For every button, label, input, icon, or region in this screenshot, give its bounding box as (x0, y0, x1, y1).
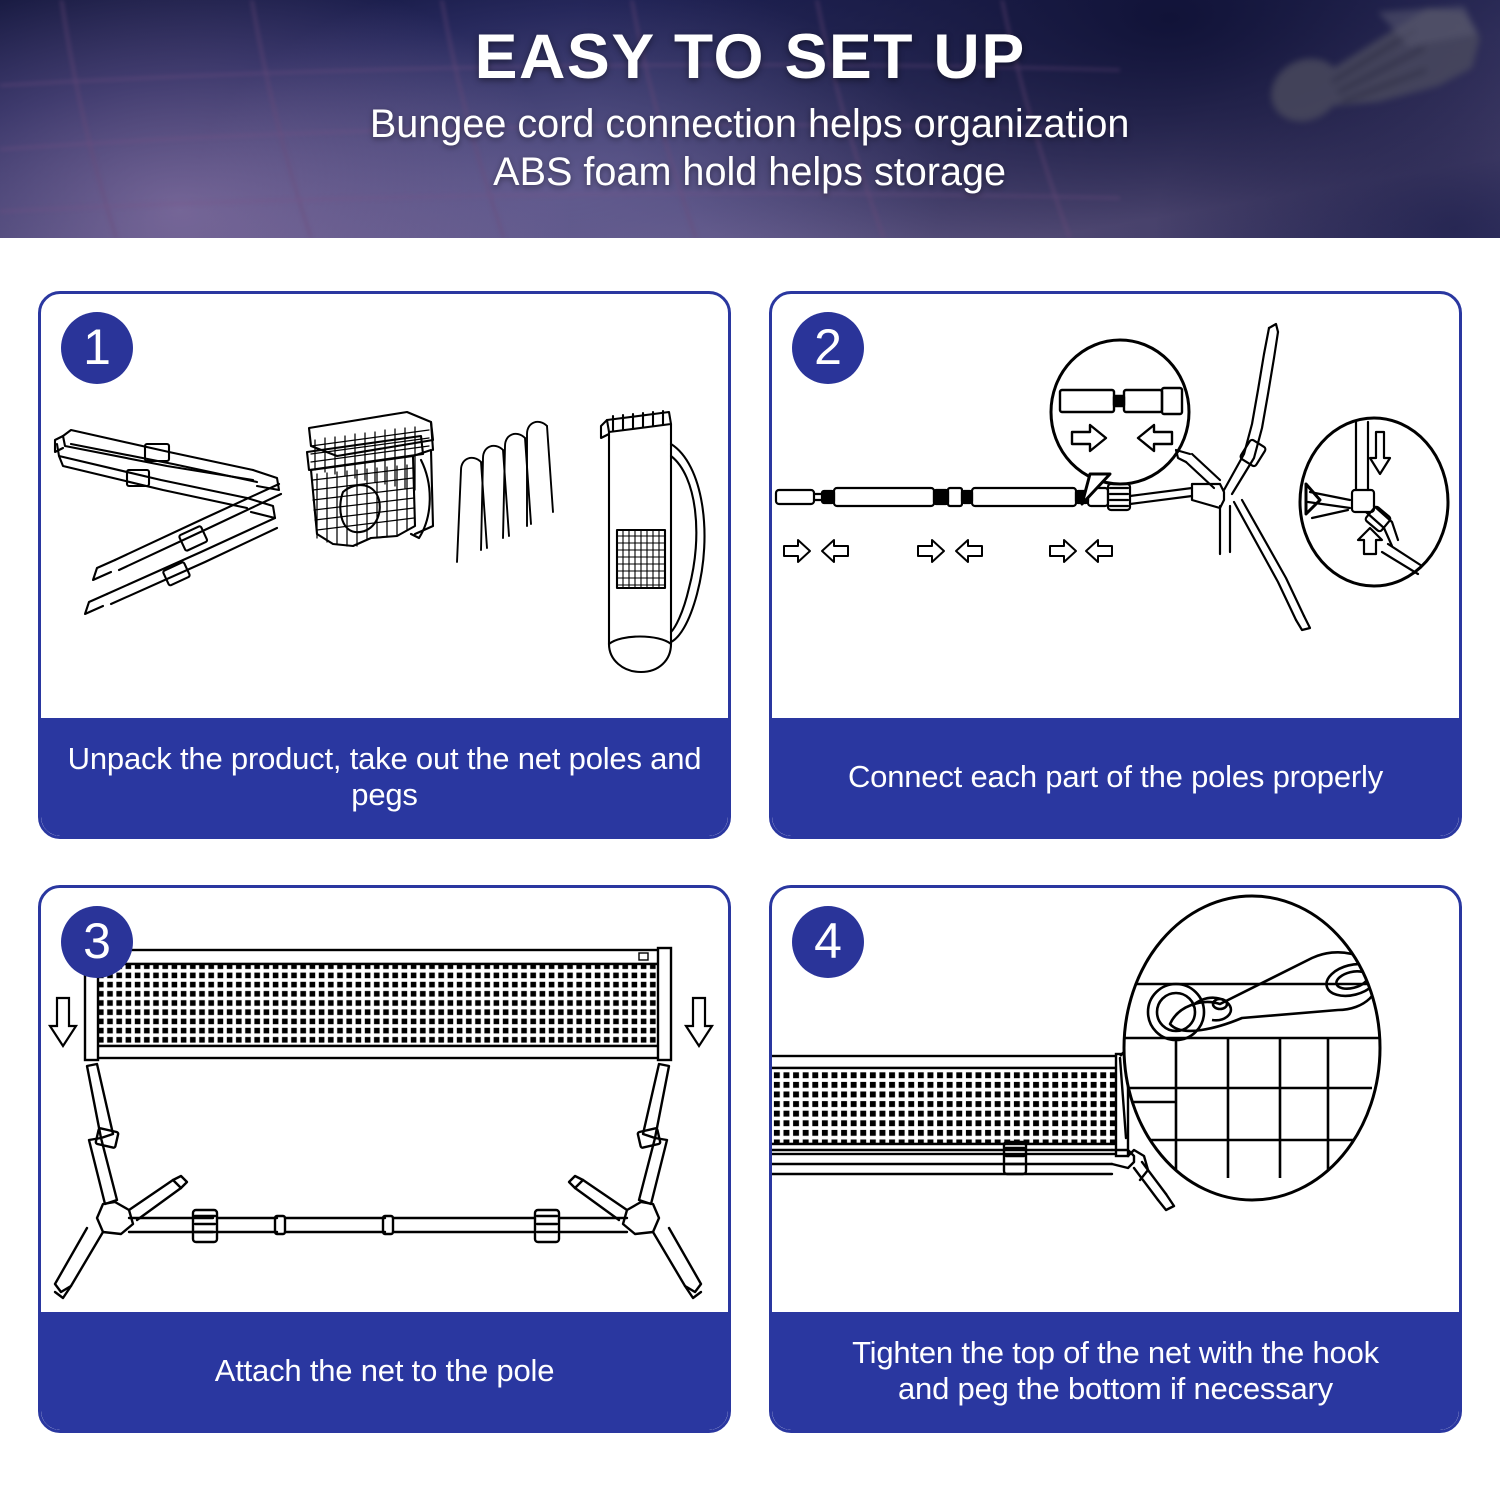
banner-subtitle: Bungee cord connection helps organizatio… (370, 101, 1130, 196)
step-badge-3: 3 (61, 906, 133, 978)
hook-tighten-diagram (772, 888, 1459, 1312)
pole-connection-diagram (772, 294, 1459, 718)
step-caption-4-line-1: Tighten the top of the net with the hook (852, 1335, 1379, 1371)
header-banner: EASY TO SET UP Bungee cord connection he… (0, 0, 1500, 238)
banner-subtitle-line-1: Bungee cord connection helps organizatio… (370, 101, 1130, 149)
step-caption-1: Unpack the product, take out the net pol… (41, 718, 728, 836)
banner-text-block: EASY TO SET UP Bungee cord connection he… (0, 0, 1500, 238)
page-title: EASY TO SET UP (474, 26, 1025, 89)
step-badge-1: 1 (61, 312, 133, 384)
step-card-4: 4 (769, 885, 1462, 1433)
attach-net-diagram (41, 888, 728, 1312)
step-card-3: 3 (38, 885, 731, 1433)
banner-subtitle-line-2: ABS foam hold helps storage (370, 149, 1130, 197)
step-card-2: 2 (769, 291, 1462, 839)
step-caption-3: Attach the net to the pole (41, 1312, 728, 1430)
step-caption-4: Tighten the top of the net with the hook… (772, 1312, 1459, 1430)
step-caption-4-line-2: and peg the bottom if necessary (852, 1371, 1379, 1407)
step-caption-2: Connect each part of the poles properly (772, 718, 1459, 836)
unpacked-parts-diagram (41, 294, 728, 718)
step-card-1: 1 (38, 291, 731, 839)
step-badge-2: 2 (792, 312, 864, 384)
steps-grid: 1 (38, 291, 1462, 1461)
step-badge-4: 4 (792, 906, 864, 978)
